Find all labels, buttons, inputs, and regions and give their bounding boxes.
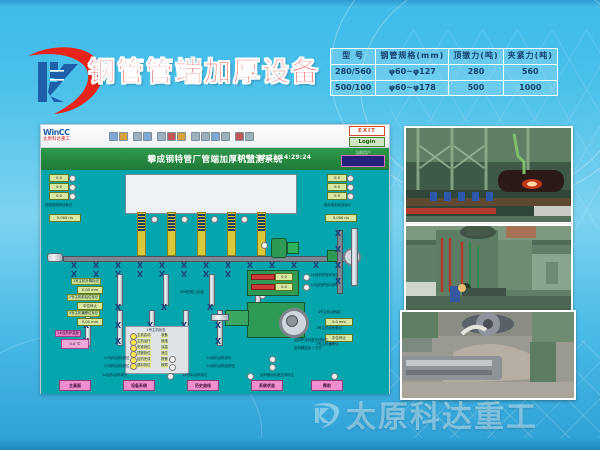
furnace-back-label: 1#加热炉出料到位 xyxy=(309,283,340,288)
toolbar-run-icon[interactable] xyxy=(211,132,220,141)
col-upset-force: 顶镦力(吨) xyxy=(449,49,503,65)
col-clamp-force: 夹紧力(吨) xyxy=(503,49,557,65)
status-label: 加热完成 xyxy=(137,357,151,362)
roller-marker xyxy=(225,262,231,268)
valve-value: 0.0 xyxy=(275,283,293,291)
toolbar-alarm-icon[interactable] xyxy=(167,132,176,141)
roller-marker xyxy=(93,262,99,268)
roller-marker xyxy=(159,262,165,268)
furnace-front-label: 1#加热炉进料到位 xyxy=(309,273,340,278)
furnace-body xyxy=(125,174,297,214)
hmi-header-bar: 攀成钢特管厂管端加厚机监测系统 2009-02-23 14:29:24 当前用户 xyxy=(41,148,389,170)
heater-column xyxy=(227,212,236,256)
status-label: 退料到位 xyxy=(137,363,151,368)
table-row: 280/560 φ60~φ127 280 560 xyxy=(331,64,558,80)
footer-indicator-label: 1#后料点料到位 xyxy=(101,373,128,378)
jack2-label: 2号主机前后位标记 xyxy=(67,294,100,301)
heater-lamp xyxy=(211,216,218,223)
toolbar-info-icon[interactable] xyxy=(245,132,254,141)
cell-pipe-size: φ60~φ127 xyxy=(376,64,449,80)
toolbar-print-icon[interactable] xyxy=(133,132,142,141)
toolbar-cut-icon[interactable] xyxy=(143,132,152,141)
jack3-label: 3号主机横移位标记 xyxy=(67,310,100,317)
footer-indicator-label: 1#放料点料到位 xyxy=(181,373,208,378)
bottom-indicator-label: 后料炉点料退至材料位 xyxy=(293,338,329,343)
footer-indicator-lamp xyxy=(167,373,174,380)
left-speed-value: 0.000 r/s xyxy=(49,214,81,222)
bottom-accent-strip xyxy=(0,438,600,450)
toolbar-stop-icon[interactable] xyxy=(221,132,230,141)
roller-marker xyxy=(93,271,99,277)
heat-temp-value: 0.0 ℃ xyxy=(61,339,89,349)
tower-valve xyxy=(287,242,299,254)
right-stack-label-2: 1号主机液压单位 xyxy=(315,326,343,331)
motor-lamp xyxy=(69,184,76,191)
photo-pipe-end xyxy=(400,310,576,400)
hmi-session-controls: EXIT Login xyxy=(347,126,387,145)
status-label: 主机运行 xyxy=(137,339,151,344)
bottom-indicator-label: 后料槽送油 1 打开 xyxy=(293,346,323,351)
bottom-indicator-label: 1#后料点料到位 xyxy=(103,356,130,361)
col-pipe-size: 钢管规格(mm) xyxy=(376,49,449,65)
right-group-title: 驱动电机状态标记 xyxy=(323,203,352,208)
roller-marker xyxy=(181,262,187,268)
motor-value: 0.0 xyxy=(327,192,347,200)
hydraulic-pipe xyxy=(251,284,275,290)
cell-clamp-force: 1000 xyxy=(503,80,557,96)
roller-marker xyxy=(269,262,275,268)
right-stack-value-2: 中位停止 xyxy=(325,334,353,342)
watermark-logo-icon xyxy=(310,399,340,429)
flywheel-hub xyxy=(286,315,298,327)
motor-lamp xyxy=(69,175,76,182)
heater-lamp xyxy=(151,216,158,223)
nav-button-equipment[interactable]: 设备系统 xyxy=(123,380,155,391)
roller-marker xyxy=(71,262,77,268)
footer-indicator-label: 后料槽点料退至材料位 xyxy=(259,373,295,378)
bottom-indicator-lamp xyxy=(269,364,276,371)
bottom-indicator-label: 1#放料点料到位 xyxy=(103,364,130,369)
hmi-current-user: 当前用户 xyxy=(341,150,385,167)
right-stack-label-1: 1号主机运转量 xyxy=(317,310,342,315)
jack1-value: 0.00 mm xyxy=(77,286,103,294)
tower-unit xyxy=(271,238,287,258)
bottom-indicator-label: 1#后料点料到位 xyxy=(205,356,232,361)
specification-table: 型 号 钢管规格(mm) 顶镦力(吨) 夹紧力(吨) 280/560 φ60~φ… xyxy=(330,48,558,96)
valve-value: 0.0 xyxy=(275,273,293,281)
motor-value: 0.0 xyxy=(327,183,347,191)
heater-lamp xyxy=(181,216,188,223)
roller-marker xyxy=(313,262,319,268)
cell-model: 280/560 xyxy=(331,64,376,80)
roller-marker xyxy=(137,262,143,268)
hmi-screenshot-panel: WinCC 太原科达重工 xyxy=(40,124,390,394)
motor-lamp xyxy=(347,175,354,182)
footer-indicator-lamp xyxy=(247,373,254,380)
roller-marker xyxy=(137,271,143,277)
page-title: 钢管管端加厚设备 xyxy=(88,50,320,89)
motor-lamp xyxy=(347,193,354,200)
toolbar-grid-icon[interactable] xyxy=(191,132,200,141)
status-label: 油温 xyxy=(161,345,168,350)
vertical-cylinder xyxy=(351,228,358,286)
toolbar-trend-icon[interactable] xyxy=(177,132,186,141)
heater-column xyxy=(137,212,146,256)
footer-indicator-lamp xyxy=(331,373,338,380)
bottom-indicator-label: 1#后料点料起到位 xyxy=(205,364,236,369)
col-model: 型 号 xyxy=(331,49,376,65)
hmi-titlebar: WinCC 太原科达重工 xyxy=(41,125,389,148)
wincc-logo: WinCC 太原科达重工 xyxy=(43,126,105,146)
cell-upset-force: 280 xyxy=(449,64,503,80)
heater-column xyxy=(197,212,206,256)
conveyor-rail xyxy=(63,256,345,262)
heater-column xyxy=(167,212,176,256)
status-label: 报警 xyxy=(161,357,168,362)
toolbar-zoom-icon[interactable] xyxy=(157,132,166,141)
watermark: 太原科达重工 xyxy=(310,392,538,436)
exit-button[interactable]: EXIT xyxy=(349,126,385,136)
jack2-value: 中位停止 xyxy=(77,302,103,310)
nav-button-history[interactable]: 历史曲线 xyxy=(187,380,219,391)
status-label: 就绪 xyxy=(161,339,168,344)
photo-mill-line xyxy=(404,126,573,224)
left-group-title: 四辊电机转动标记 xyxy=(44,203,73,208)
push-rod xyxy=(211,314,229,321)
nav-button-help[interactable]: 帮助 xyxy=(311,380,343,391)
tower-lamp xyxy=(261,242,268,249)
watermark-text: 太原科达重工 xyxy=(346,392,538,436)
motor-value: 0.0 xyxy=(49,192,69,200)
mid-center-label: 中间位置上料辊 xyxy=(179,290,205,295)
heat-temp-label: 1#加热炉温度 xyxy=(55,330,81,337)
cell-model: 500/100 xyxy=(331,80,376,96)
roller-marker xyxy=(225,271,231,277)
jack1-label: 1号主机升降标记 xyxy=(71,278,101,285)
table-row: 500/100 φ60~φ178 500 1000 xyxy=(331,80,558,96)
nav-button-system[interactable]: 系统状态 xyxy=(251,380,283,391)
status-lamp xyxy=(130,363,137,370)
status-label: 故障 xyxy=(161,363,168,368)
status-label: 顶镦到位 xyxy=(137,351,151,356)
toolbar-open-icon[interactable] xyxy=(109,132,118,141)
hydraulic-cylinder xyxy=(163,274,169,306)
status-label: 主机启动 xyxy=(137,333,151,338)
status-label: 夹紧到位 xyxy=(137,345,151,350)
roller-marker xyxy=(291,262,297,268)
table-header-row: 型 号 钢管规格(mm) 顶镦力(吨) 夹紧力(吨) xyxy=(331,49,558,65)
login-button[interactable]: Login xyxy=(349,137,385,147)
bottom-indicator-lamp xyxy=(269,356,276,363)
status-label: 液位 xyxy=(161,351,168,356)
toolbar-save-icon[interactable] xyxy=(119,132,128,141)
right-speed-value: 0.000 r/s xyxy=(325,214,357,222)
motor-value: 0.0 xyxy=(49,174,69,182)
heater-lamp xyxy=(241,216,248,223)
toolbar-align-icon[interactable] xyxy=(201,132,210,141)
hmi-datetime: 2009-02-23 14:29:24 xyxy=(237,154,311,161)
roller-marker xyxy=(181,271,187,277)
bottom-indicator-lamp xyxy=(169,356,176,363)
hydraulic-cylinder xyxy=(117,274,123,306)
toolbar-help-icon[interactable] xyxy=(235,132,244,141)
hmi-process-diagram: 0.0 0.0 0.0 四辊电机转动标记 0.000 r/s 0.0 0.0 0… xyxy=(41,170,389,394)
cell-upset-force: 500 xyxy=(449,80,503,96)
conveyor-end-roller xyxy=(47,253,63,262)
heater-column xyxy=(257,212,266,256)
motor-value: 0.0 xyxy=(327,174,347,182)
roller-marker xyxy=(247,262,253,268)
wincc-logo-text: WinCC xyxy=(43,129,105,137)
hydraulic-pipe xyxy=(251,274,275,280)
hmi-user-value xyxy=(341,155,385,167)
motor-value: 0.0 xyxy=(49,183,69,191)
roller-marker xyxy=(115,262,121,268)
wincc-logo-subtext: 太原科达重工 xyxy=(43,137,105,143)
cell-pipe-size: φ60~φ178 xyxy=(376,80,449,96)
status-label: 准备 xyxy=(161,333,168,338)
jack3-value: 0.00 mm xyxy=(77,318,103,326)
nav-button-main[interactable]: 主画面 xyxy=(59,380,91,391)
right-stack-value-1: 0.0 mm xyxy=(325,318,353,326)
roller-marker xyxy=(71,271,77,277)
hmi-screen-title: 攀成钢特管厂管端加厚机监测系统 xyxy=(41,153,389,165)
motor-lamp xyxy=(347,184,354,191)
machine-status-panel-title: 1号主机状态 xyxy=(127,327,185,332)
bottom-indicator-lamp xyxy=(169,364,176,371)
cell-clamp-force: 560 xyxy=(503,64,557,80)
slide-canvas: 钢管管端加厚设备 型 号 钢管规格(mm) 顶镦力(吨) 夹紧力(吨) 280/… xyxy=(0,0,600,450)
photo-press-machine xyxy=(404,224,573,312)
hydraulic-cylinder xyxy=(209,274,215,306)
top-accent-strip xyxy=(0,0,600,8)
motor-lamp xyxy=(69,193,76,200)
roller-marker xyxy=(203,262,209,268)
